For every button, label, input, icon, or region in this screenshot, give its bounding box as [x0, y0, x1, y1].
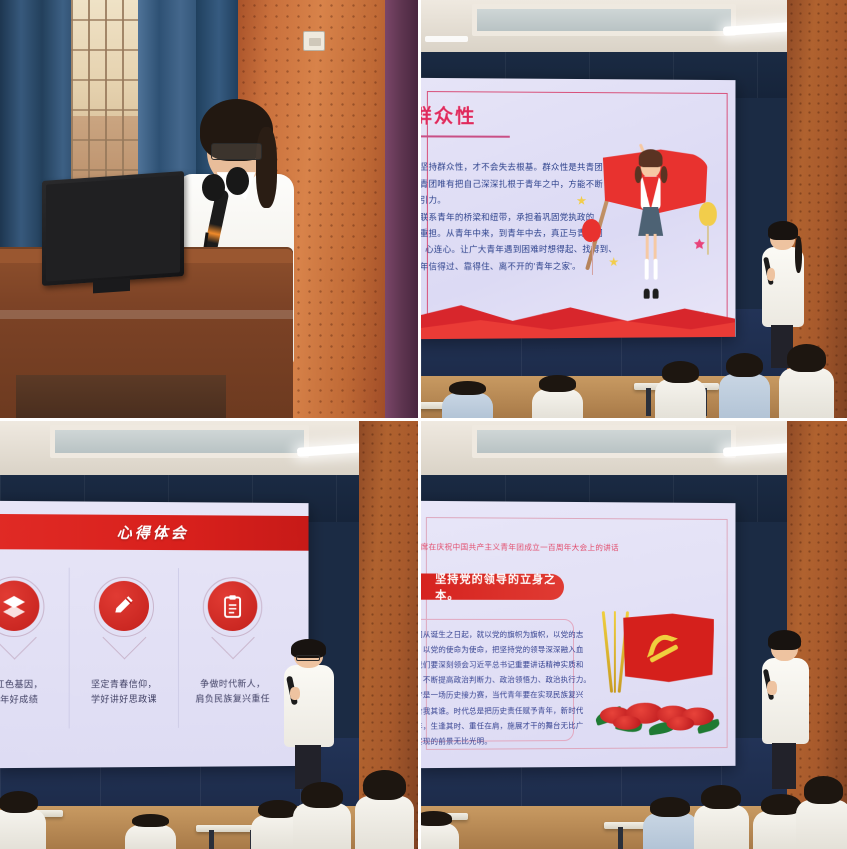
girl-skirt: [638, 207, 663, 236]
body-line: 有坚持群众性，才不会失去根基。群众性是共青团: [421, 159, 581, 176]
audience-student: [532, 375, 583, 418]
student-body: [532, 389, 583, 418]
clipboard-icon: [220, 593, 246, 619]
podium-trim-band: [0, 310, 293, 319]
audience-student: [779, 344, 834, 418]
audience-rows: [421, 276, 847, 418]
ceiling: [421, 0, 847, 54]
star-decor-icon: [608, 257, 618, 267]
pin-circle: [208, 581, 258, 631]
student-body: [719, 374, 770, 418]
monitor-stand: [93, 278, 130, 293]
ceiling-recess: [472, 425, 736, 457]
student-head: [132, 814, 168, 827]
desk-leg: [618, 827, 623, 849]
slide-headline: 坚持党的领导的立身之本。: [435, 571, 564, 603]
audience-student: [355, 770, 414, 849]
audience-student: [0, 791, 46, 849]
student-head: [449, 381, 486, 395]
presenter-arm: [767, 681, 776, 695]
body-line: 党联系青年的桥梁和纽带，承担着巩固党执政的: [421, 209, 581, 226]
student-body: [694, 805, 749, 849]
ceiling: [0, 421, 418, 477]
auditorium-scene: [0, 0, 418, 418]
audience-student: [655, 361, 706, 418]
student-head: [726, 353, 763, 378]
body-line: 心连心。让广大青年遇到困难时想得起、找得到、: [421, 242, 581, 259]
audience-student: [796, 776, 847, 849]
student-head: [701, 785, 741, 809]
student-body: [442, 393, 493, 418]
desk-leg: [646, 388, 651, 416]
audience-student: [694, 785, 749, 849]
student-head: [363, 770, 405, 800]
student-head: [421, 811, 452, 825]
body-line: 国从诞生之日起，就以党的旗帜为旗帜，以党的志: [421, 627, 564, 642]
body-line: 共青团唯有把自己深深扎根于青年之中，方能不断: [421, 176, 581, 193]
body-line: 青年信得过、靠得住、离不开的'青年之家'。: [421, 258, 581, 275]
ceiling-recess: [472, 4, 736, 36]
body-line: 梦是一场历史接力赛，当代青年要在实现民族复兴: [421, 688, 564, 704]
slide-body-text: 有坚持群众性，才不会失去根基。群众性是共青团 共青团唯有把自己深深扎根于青年之中…: [421, 159, 581, 275]
student-body: [643, 813, 698, 849]
lecture-hall-scene: 心得体会: [0, 421, 418, 849]
column-line-1: 争做时代新人，: [179, 677, 287, 693]
audience-student: [442, 381, 493, 418]
panel-slide-reflections: 心得体会: [0, 421, 421, 849]
student-head: [301, 782, 343, 807]
student-head: [0, 791, 38, 813]
body-line: 的重担。从青年中来，到青年中去，真正与青年同: [421, 225, 581, 242]
red-balloon-icon: [582, 219, 601, 242]
speaker-glasses: [211, 143, 262, 160]
girl-hair: [638, 150, 661, 168]
pin-marker: [201, 575, 264, 651]
hammer-and-sickle-icon: [646, 632, 681, 677]
panel-slide-party-leadership: 主席在庆祝中国共产主义青年团成立一百周年大会上的讲话 坚持党的领导的立身之本。 …: [421, 421, 847, 849]
presenter-hair: [768, 221, 798, 239]
student-body: [355, 796, 414, 849]
presenter-ponytail: [795, 236, 802, 273]
ceiling-recess: [50, 425, 309, 457]
monitor-screen: [46, 175, 180, 281]
pin-marker: [92, 575, 156, 651]
audience-rows: [0, 703, 418, 849]
slide-title: 群众性: [421, 102, 476, 130]
photo-collage: 群众性 有坚持群众性，才不会失去根基。群众性是共青团 共青团唯有把自己深深扎根于…: [0, 0, 847, 849]
ceiling: [421, 421, 847, 477]
column-line-1: 承红色基因，: [0, 677, 69, 693]
presenter-glasses: [296, 655, 320, 661]
purple-curtain-right: [385, 0, 418, 418]
audience-student: [125, 814, 175, 849]
slide-headline-pill: 坚持党的领导的立身之本。: [421, 573, 564, 600]
audience-student: [643, 797, 698, 849]
student-head: [787, 344, 827, 372]
body-line: ，以党的使命为使命，把坚持党的领导深深融入血: [421, 642, 564, 657]
student-body: [0, 809, 46, 849]
body-line: 我们要深刻领会习近平总书记重要讲话精神实质和: [421, 657, 564, 672]
body-line: 吸引力。: [421, 192, 581, 209]
girl-braid-right: [660, 166, 666, 183]
panel-podium-speaker: [0, 0, 421, 421]
presenter-hair: [768, 630, 801, 650]
column-line-1: 坚定青春信仰，: [70, 677, 178, 693]
pin-circle: [99, 581, 149, 631]
student-head: [662, 361, 699, 383]
student-body: [293, 803, 352, 849]
speaker-hair-side: [256, 127, 278, 207]
lecture-hall-scene: 主席在庆祝中国共产主义青年团成立一百周年大会上的讲话 坚持党的领导的立身之本。 …: [421, 421, 847, 849]
body-line: ，不断提高政治判断力、政治领悟力、政治执行力。: [421, 673, 564, 689]
student-body: [125, 825, 175, 849]
student-head: [650, 797, 690, 817]
podium-monitor: [42, 171, 184, 285]
audience-rows: [421, 703, 847, 849]
student-head: [804, 776, 844, 804]
pencil-icon: [111, 593, 137, 619]
audience-student: [293, 782, 352, 849]
layers-icon: [1, 593, 27, 619]
flower-decor-icon: [694, 239, 705, 250]
ceiling-light-secondary: [425, 36, 468, 42]
podium-base: [16, 375, 227, 418]
slide-source-line: 主席在庆祝中国共产主义青年团成立一百周年大会上的讲话: [421, 541, 618, 553]
wall-socket: [303, 31, 325, 51]
student-body: [779, 368, 834, 418]
pin-marker: [0, 574, 47, 651]
slide-title-bar: 心得体会: [0, 515, 308, 551]
student-body: [796, 800, 847, 849]
slide-title: 心得体会: [117, 522, 189, 543]
panel-slide-mass-character: 群众性 有坚持群众性，才不会失去根基。群众性是共青团 共青团唯有把自己深深扎根于…: [421, 0, 847, 421]
student-body: [421, 823, 459, 849]
audience-student: [719, 353, 770, 418]
desk-leg: [209, 830, 214, 849]
audience-student: [421, 811, 459, 849]
lecture-hall-scene: 群众性 有坚持群众性，才不会失去根基。群众性是共青团 共青团唯有把自己深深扎根于…: [421, 0, 847, 418]
star-decor-icon: [576, 196, 586, 206]
student-body: [655, 379, 706, 418]
presenter-arm: [290, 687, 300, 700]
student-head: [539, 375, 576, 391]
yellow-balloon-icon: [699, 203, 716, 226]
